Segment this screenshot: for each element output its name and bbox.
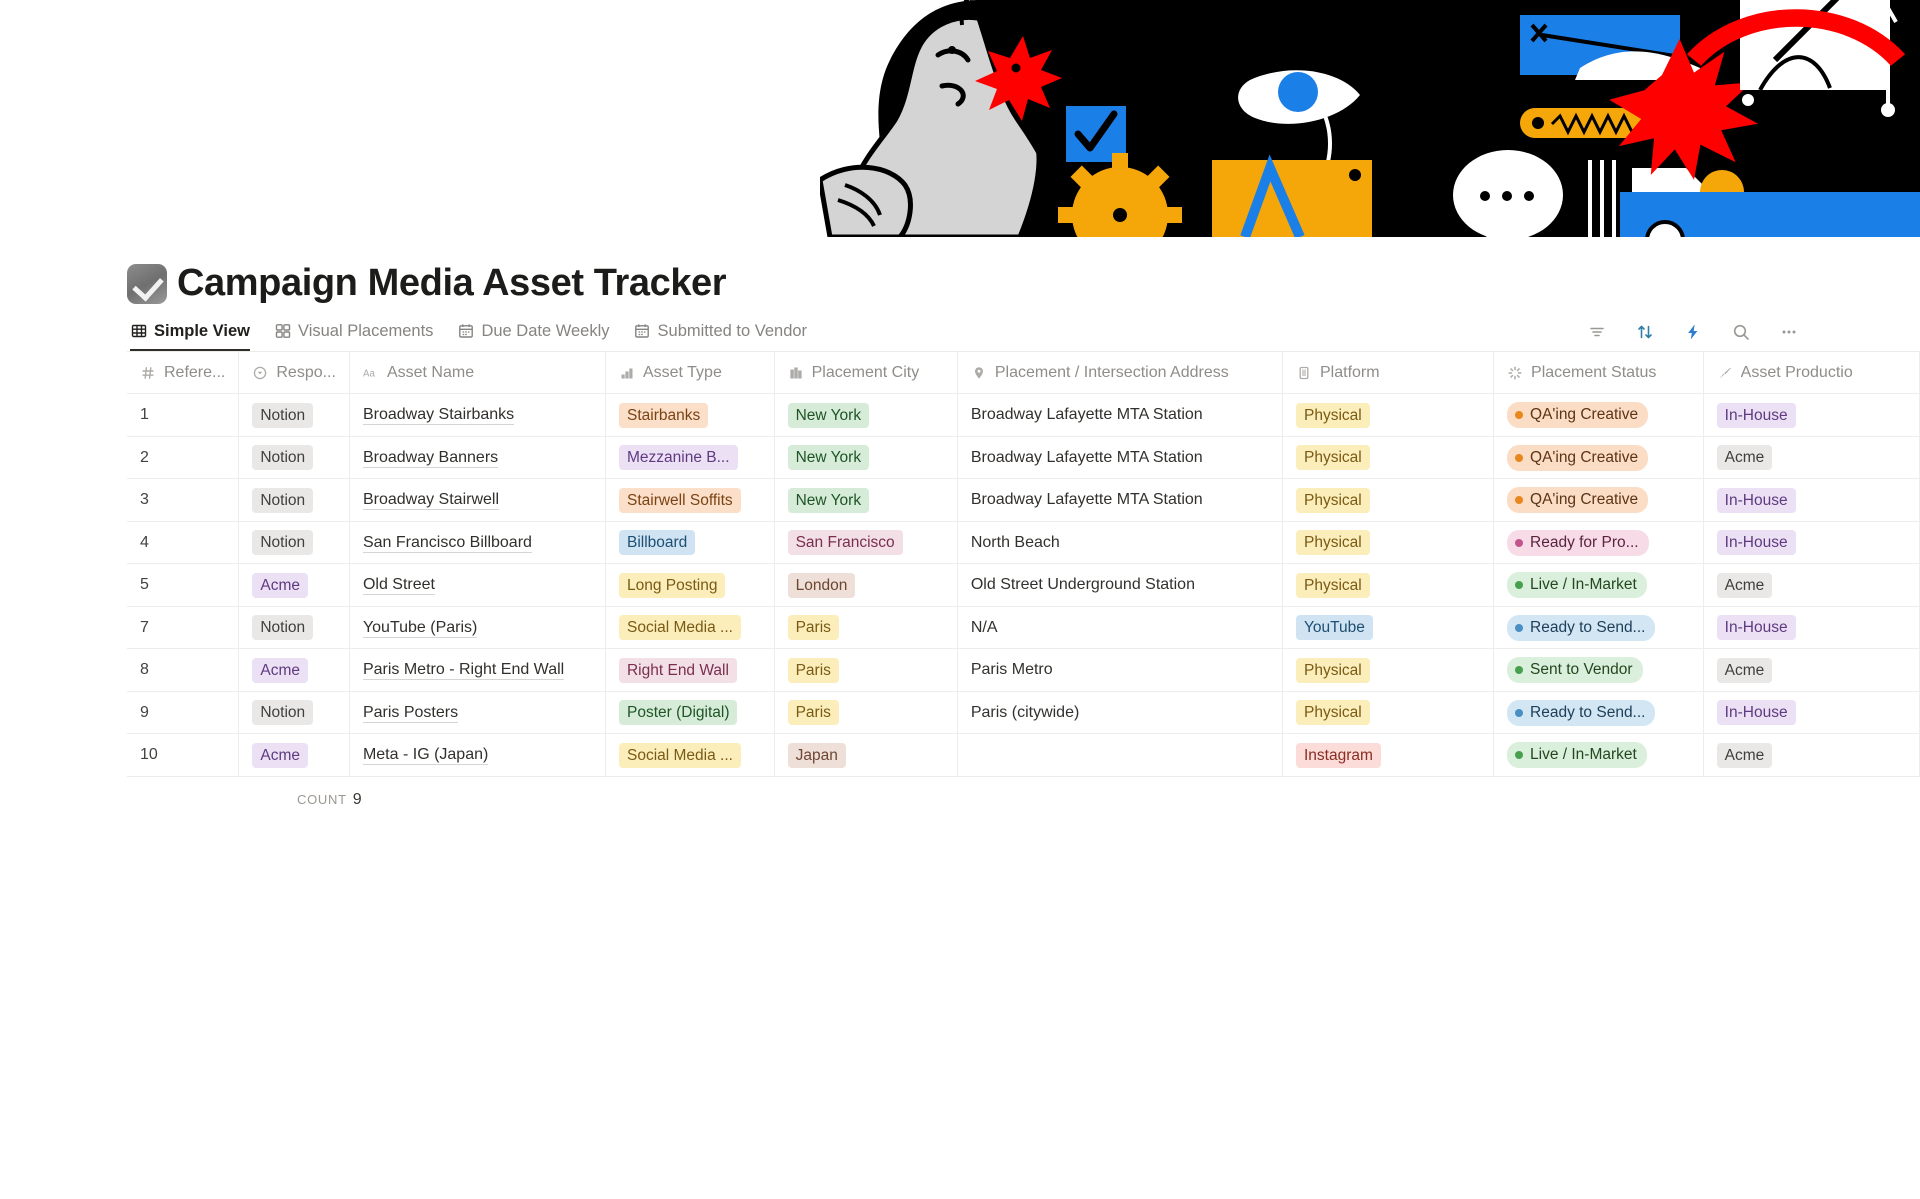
asset-name-link[interactable]: Old Street [363,576,435,595]
platform-tag[interactable]: YouTube [1296,615,1373,640]
column-header-placement-status[interactable]: Placement Status [1494,351,1704,394]
tab-label: Visual Placements [298,322,433,341]
asset-type-tag[interactable]: Social Media ... [619,615,741,640]
tab-submitted-to-vendor[interactable]: Submitted to Vendor [634,322,808,351]
tab-due-date-weekly[interactable]: Due Date Weekly [457,322,609,351]
asset-type-tag[interactable]: Stairwell Soffits [619,488,741,513]
cell-responsible[interactable]: Notion [239,479,350,522]
column-header-placement-city[interactable]: Placement City [774,351,957,394]
placement-city-tag[interactable]: Paris [788,615,839,640]
asset-type-tag[interactable]: Right End Wall [619,658,737,683]
cell-placement-status[interactable]: Ready to Send... [1494,606,1704,649]
cell-placement-city[interactable]: Paris [774,649,957,692]
paintbrush-icon [1717,365,1733,381]
status-label: Live / In-Market [1530,745,1637,765]
cell-reference: 1 [127,394,239,437]
status-label: Live / In-Market [1530,575,1637,595]
count-value: 9 [353,791,362,808]
cell-address[interactable]: Paris (citywide) [957,691,1282,734]
cell-placement-city[interactable]: New York [774,436,957,479]
status-dot [1515,666,1523,674]
tab-label: Submitted to Vendor [658,322,808,341]
count-label: COUNT [297,792,347,807]
status-label: Sent to Vendor [1530,660,1633,680]
table-row[interactable]: 4NotionSan Francisco BillboardBillboardS… [127,521,1920,564]
tab-label: Simple View [154,322,250,341]
cell-asset-type[interactable]: Social Media ... [605,734,774,777]
device-icon [1296,365,1312,381]
asset-type-tag[interactable]: Long Posting [619,573,726,598]
cell-asset-production[interactable]: In-House [1703,521,1919,564]
cell-asset-name[interactable]: Broadway Banners [349,436,605,479]
cell-asset-production[interactable]: In-House [1703,394,1919,437]
asset-production-tag[interactable]: In-House [1717,403,1796,428]
responsible-tag[interactable]: Notion [252,403,313,428]
asset-name-link[interactable]: Broadway Stairwell [363,491,499,510]
status-badge[interactable]: Ready to Send... [1507,700,1655,726]
column-header-asset-production[interactable]: Asset Productio [1703,351,1919,394]
cell-responsible[interactable]: Notion [239,436,350,479]
cell-responsible[interactable]: Acme [239,564,350,607]
select-circle-icon [252,365,268,381]
column-label: Placement Status [1531,364,1656,382]
cell-address[interactable]: Broadway Lafayette MTA Station [957,394,1282,437]
asset-production-tag[interactable]: In-House [1717,530,1796,555]
column-header-asset-type[interactable]: Asset Type [605,351,774,394]
status-dot [1515,411,1523,419]
cell-asset-name[interactable]: Broadway Stairwell [349,479,605,522]
cell-placement-city[interactable]: San Francisco [774,521,957,564]
asset-type-tag[interactable]: Mezzanine B... [619,445,738,470]
placement-city-tag[interactable]: New York [788,488,869,513]
responsible-tag[interactable]: Notion [252,488,313,513]
cell-responsible[interactable]: Notion [239,394,350,437]
placement-city-tag[interactable]: Japan [788,743,846,768]
status-badge[interactable]: Ready to Send... [1507,615,1655,641]
placement-city-tag[interactable]: New York [788,403,869,428]
cell-responsible[interactable]: Notion [239,691,350,734]
status-dot [1515,454,1523,462]
cell-address[interactable]: N/A [957,606,1282,649]
asset-table: Refere... Respo... [127,351,1920,777]
responsible-tag[interactable]: Acme [252,658,308,683]
table-row[interactable]: 3NotionBroadway StairwellStairwell Soffi… [127,479,1920,522]
calendar-icon [634,323,651,340]
cell-asset-name[interactable]: YouTube (Paris) [349,606,605,649]
placement-city-tag[interactable]: London [788,573,856,598]
cell-asset-production[interactable]: Acme [1703,564,1919,607]
asset-name-link[interactable]: Paris Posters [363,704,458,723]
table-row[interactable]: 10AcmeMeta - IG (Japan)Social Media ...J… [127,734,1920,777]
asset-production-tag[interactable]: In-House [1717,488,1796,513]
column-header-platform[interactable]: Platform [1283,351,1494,394]
status-dot [1515,624,1523,632]
asset-production-tag[interactable]: Acme [1717,743,1773,768]
automation-lightning-icon[interactable] [1682,321,1704,343]
asset-name-link[interactable]: Broadway Stairbanks [363,406,514,425]
tab-visual-placements[interactable]: Visual Placements [274,322,433,351]
table-body: 1NotionBroadway StairbanksStairbanksNew … [127,394,1920,777]
status-dot [1515,539,1523,547]
column-header-responsible[interactable]: Respo... [239,351,350,394]
cell-asset-type[interactable]: Right End Wall [605,649,774,692]
cell-asset-type[interactable]: Poster (Digital) [605,691,774,734]
column-label: Refere... [164,364,225,382]
cell-asset-name[interactable]: San Francisco Billboard [349,521,605,564]
cell-reference: 3 [127,479,239,522]
cell-placement-city[interactable]: Paris [774,606,957,649]
platform-tag[interactable]: Physical [1296,488,1370,513]
cell-asset-name[interactable]: Broadway Stairbanks [349,394,605,437]
table-row[interactable]: 2NotionBroadway BannersMezzanine B...New… [127,436,1920,479]
search-icon[interactable] [1730,321,1752,343]
column-label: Asset Type [643,364,722,382]
asset-name-link[interactable]: San Francisco Billboard [363,534,532,553]
cell-asset-production[interactable]: Acme [1703,649,1919,692]
cell-asset-production[interactable]: In-House [1703,606,1919,649]
asset-type-tag[interactable]: Poster (Digital) [619,700,738,725]
cell-asset-production[interactable]: Acme [1703,436,1919,479]
responsible-tag[interactable]: Notion [252,700,313,725]
cell-asset-name[interactable]: Meta - IG (Japan) [349,734,605,777]
cell-platform[interactable]: Physical [1283,436,1494,479]
status-badge[interactable]: QA'ing Creative [1507,402,1648,428]
cell-reference: 2 [127,436,239,479]
platform-tag[interactable]: Physical [1296,658,1370,683]
cell-placement-status[interactable]: Live / In-Market [1494,734,1704,777]
cell-responsible[interactable]: Acme [239,734,350,777]
column-label: Placement / Intersection Address [995,364,1229,382]
status-dot [1515,581,1523,589]
table-row[interactable]: 1NotionBroadway StairbanksStairbanksNew … [127,394,1920,437]
table-footer-count[interactable]: COUNT9 [127,777,1920,809]
cell-address[interactable]: Broadway Lafayette MTA Station [957,479,1282,522]
column-label: Asset Name [387,364,474,382]
platform-tag[interactable]: Physical [1296,530,1370,555]
table-row[interactable]: 5AcmeOld StreetLong PostingLondonOld Str… [127,564,1920,607]
status-label: QA'ing Creative [1530,490,1638,510]
cell-platform[interactable]: Physical [1283,394,1494,437]
asset-type-tag[interactable]: Stairbanks [619,403,708,428]
cell-platform[interactable]: Physical [1283,521,1494,564]
cell-address[interactable]: North Beach [957,521,1282,564]
tab-simple-view[interactable]: Simple View [130,322,250,351]
page-header: Campaign Media Asset Tracker [0,237,1920,305]
view-tabs-bar: Simple View Visual Placements [0,305,1920,351]
status-badge[interactable]: Sent to Vendor [1507,657,1643,683]
platform-tag[interactable]: Physical [1296,700,1370,725]
spinner-status-icon [1507,365,1523,381]
responsible-tag[interactable]: Acme [252,573,308,598]
cell-asset-type[interactable]: Stairwell Soffits [605,479,774,522]
cell-responsible[interactable]: Notion [239,606,350,649]
cell-address[interactable]: Old Street Underground Station [957,564,1282,607]
status-label: QA'ing Creative [1530,405,1638,425]
placement-city-tag[interactable]: New York [788,445,869,470]
column-header-reference[interactable]: Refere... [127,351,239,394]
database-table: Refere... Respo... [0,351,1920,809]
cell-asset-type[interactable]: Mezzanine B... [605,436,774,479]
text-aa-icon: Aa [363,365,379,381]
asset-name-link[interactable]: Broadway Banners [363,449,498,468]
status-dot [1515,751,1523,759]
cell-asset-production[interactable]: Acme [1703,734,1919,777]
cell-address[interactable]: Broadway Lafayette MTA Station [957,436,1282,479]
asset-type-tag[interactable]: Billboard [619,530,695,555]
tab-label: Due Date Weekly [481,322,609,341]
cell-asset-type[interactable]: Stairbanks [605,394,774,437]
column-header-asset-name[interactable]: Aa Asset Name [349,351,605,394]
table-icon [130,323,147,340]
placement-city-tag[interactable]: Paris [788,658,839,683]
asset-name-link[interactable]: YouTube (Paris) [363,619,477,638]
table-row[interactable]: 9NotionParis PostersPoster (Digital)Pari… [127,691,1920,734]
status-label: Ready to Send... [1530,703,1645,723]
cell-asset-production[interactable]: In-House [1703,479,1919,522]
table-header-row: Refere... Respo... [127,351,1920,394]
cell-placement-status[interactable]: Live / In-Market [1494,564,1704,607]
map-pin-icon [971,365,987,381]
cell-platform[interactable]: Instagram [1283,734,1494,777]
cell-asset-name[interactable]: Paris Metro - Right End Wall [349,649,605,692]
bar-chart-icon [619,365,635,381]
platform-tag[interactable]: Physical [1296,573,1370,598]
status-label: Ready to Send... [1530,618,1645,638]
status-badge[interactable]: Live / In-Market [1507,572,1647,598]
cell-platform[interactable]: Physical [1283,564,1494,607]
number-sign-icon [140,365,156,381]
cell-address[interactable] [957,734,1282,777]
cell-placement-status[interactable]: Sent to Vendor [1494,649,1704,692]
cell-asset-name[interactable]: Paris Posters [349,691,605,734]
cell-placement-status[interactable]: QA'ing Creative [1494,436,1704,479]
orange-rect-zig [1212,160,1372,237]
placement-city-tag[interactable]: San Francisco [788,530,903,555]
sort-icon[interactable] [1634,321,1656,343]
cell-reference: 10 [127,734,239,777]
page-body: Campaign Media Asset Tracker Simple View [0,237,1920,809]
status-badge[interactable]: Live / In-Market [1507,742,1647,768]
asset-production-tag[interactable]: In-House [1717,615,1796,640]
cell-platform[interactable]: Physical [1283,479,1494,522]
buildings-icon [788,365,804,381]
cell-placement-status[interactable]: Ready to Send... [1494,691,1704,734]
asset-type-tag[interactable]: Social Media ... [619,743,741,768]
status-label: QA'ing Creative [1530,448,1638,468]
asset-production-tag[interactable]: Acme [1717,445,1773,470]
cell-asset-type[interactable]: Social Media ... [605,606,774,649]
platform-tag[interactable]: Instagram [1296,743,1381,768]
cell-asset-name[interactable]: Old Street [349,564,605,607]
status-badge[interactable]: Ready for Pro... [1507,530,1649,556]
table-row[interactable]: 7NotionYouTube (Paris)Social Media ...Pa… [127,606,1920,649]
page-cover-image [820,0,1920,237]
cell-address[interactable]: Paris Metro [957,649,1282,692]
column-label: Asset Productio [1741,364,1853,382]
cell-placement-status[interactable]: QA'ing Creative [1494,479,1704,522]
cell-reference: 8 [127,649,239,692]
cell-placement-city[interactable]: Paris [774,691,957,734]
status-dot [1515,496,1523,504]
status-label: Ready for Pro... [1530,533,1639,553]
status-dot [1515,709,1523,717]
calendar-icon [457,323,474,340]
cell-platform[interactable]: YouTube [1283,606,1494,649]
table-row[interactable]: 8AcmeParis Metro - Right End WallRight E… [127,649,1920,692]
cell-reference: 7 [127,606,239,649]
speech-bubble [1453,150,1563,237]
asset-name-link[interactable]: Paris Metro - Right End Wall [363,661,564,680]
responsible-tag[interactable]: Acme [252,743,308,768]
cell-asset-type[interactable]: Long Posting [605,564,774,607]
platform-tag[interactable]: Physical [1296,403,1370,428]
placement-city-tag[interactable]: Paris [788,700,839,725]
cell-asset-type[interactable]: Billboard [605,521,774,564]
cell-reference: 4 [127,521,239,564]
cell-placement-status[interactable]: Ready for Pro... [1494,521,1704,564]
cell-placement-city[interactable]: Japan [774,734,957,777]
status-badge[interactable]: QA'ing Creative [1507,487,1648,513]
asset-name-link[interactable]: Meta - IG (Japan) [363,746,488,765]
column-header-placement-address[interactable]: Placement / Intersection Address [957,351,1282,394]
responsible-tag[interactable]: Notion [252,445,313,470]
more-options-icon[interactable] [1778,321,1800,343]
filter-icon[interactable] [1586,321,1608,343]
cell-placement-status[interactable]: QA'ing Creative [1494,394,1704,437]
white-check-mark-emoji [127,264,167,304]
cell-platform[interactable]: Physical [1283,649,1494,692]
gallery-icon [274,323,291,340]
asset-production-tag[interactable]: Acme [1717,658,1773,683]
view-toolbar [1586,321,1800,351]
cell-responsible[interactable]: Acme [239,649,350,692]
svg-text:Aa: Aa [363,368,376,379]
status-badge[interactable]: QA'ing Creative [1507,445,1648,471]
cell-placement-city[interactable]: New York [774,479,957,522]
responsible-tag[interactable]: Notion [252,530,313,555]
column-label: Platform [1320,364,1380,382]
page-title: Campaign Media Asset Tracker [177,263,726,305]
column-label: Respo... [276,364,336,382]
asset-production-tag[interactable]: Acme [1717,573,1773,598]
cell-reference: 5 [127,564,239,607]
cell-platform[interactable]: Physical [1283,691,1494,734]
column-label: Placement City [812,364,920,382]
view-tabs: Simple View Visual Placements [130,322,807,351]
asset-production-tag[interactable]: In-House [1717,700,1796,725]
platform-tag[interactable]: Physical [1296,445,1370,470]
cell-asset-production[interactable]: In-House [1703,691,1919,734]
cell-placement-city[interactable]: New York [774,394,957,437]
cell-reference: 9 [127,691,239,734]
cell-placement-city[interactable]: London [774,564,957,607]
responsible-tag[interactable]: Notion [252,615,313,640]
cell-responsible[interactable]: Notion [239,521,350,564]
